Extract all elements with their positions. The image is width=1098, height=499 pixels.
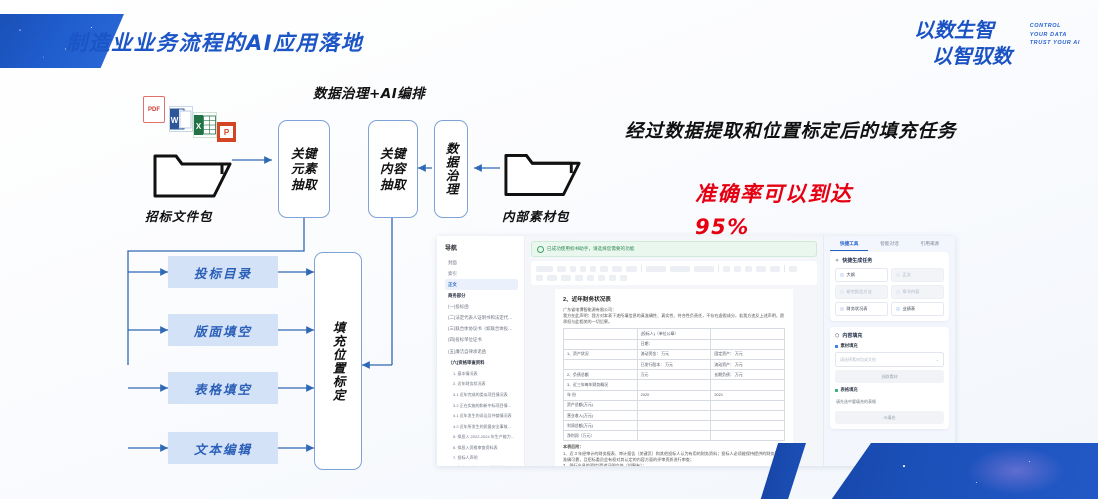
table-cell-7-2[interactable] — [711, 401, 784, 410]
panel-tab-1[interactable]: 智能对话 — [870, 238, 908, 251]
more-button[interactable] — [789, 266, 797, 272]
quick-generate-title: 快捷生成任务 — [842, 257, 872, 264]
material-fill-label-row: 素材填充 — [835, 343, 944, 349]
table-cell-4-0[interactable]: 2、负债总额 — [564, 370, 638, 379]
table-cell-10-0[interactable]: 净利润（万元） — [564, 431, 638, 440]
table-row: 利润总额(万元) — [564, 421, 784, 431]
excel-file-icon: X — [193, 112, 217, 138]
table-row: (投标人)（单位公章） — [564, 329, 784, 339]
node-key-content-extract[interactable]: 关键内容抽取 — [368, 120, 418, 218]
table-cell-3-1[interactable]: 已发行股本： 万元 — [638, 360, 712, 369]
table-cell-0-0[interactable] — [564, 329, 638, 338]
table-cell-10-2[interactable] — [711, 431, 784, 440]
line-spacing-button[interactable] — [756, 266, 766, 272]
node-fill-position-calibration-label: 填充位置标定 — [330, 321, 345, 402]
table-cell-9-0[interactable]: 利润总额(万元) — [564, 421, 638, 430]
quick-button-label: 正文 — [903, 272, 911, 278]
nav-item-15[interactable]: 4.2 近年所发生的质量安全事故情况... — [445, 421, 518, 432]
chevron-down-icon: ⌄ — [936, 357, 939, 362]
app-document-area: 已成功使用标书助手，请选择您需要的功能 — [525, 236, 823, 466]
format-painter-button[interactable] — [536, 275, 543, 281]
nav-item-1[interactable]: 索引 — [445, 268, 518, 279]
headline-red-line-1: 准确率可以到达 — [695, 178, 1025, 211]
insert-shape-button[interactable] — [587, 275, 594, 281]
default-style-chip[interactable] — [694, 266, 714, 272]
highlight-button[interactable] — [626, 266, 637, 272]
table-cell-8-1[interactable] — [638, 411, 712, 420]
nav-item-18[interactable]: 7. 投标人声明 — [445, 453, 518, 464]
node-fill-position-calibration[interactable]: 填充位置标定 — [314, 252, 362, 470]
table-cell-6-1[interactable]: 2020 — [638, 391, 712, 400]
default-font-size-chip[interactable] — [646, 266, 666, 272]
node-data-governance-label: 数据治理 — [443, 142, 458, 196]
fill-task-2[interactable]: 表格填空 — [168, 372, 278, 404]
svg-text:W: W — [171, 116, 179, 125]
svg-text:X: X — [196, 122, 202, 131]
source-folder-icon — [152, 146, 234, 209]
align-right-button[interactable] — [745, 266, 752, 272]
bullet-square-icon — [835, 345, 838, 348]
insert-image-button[interactable] — [547, 275, 557, 281]
undo-button[interactable] — [598, 275, 605, 281]
toolbar-row-1[interactable] — [536, 264, 812, 273]
embedded-app-screenshot: 导航 封面索引正文商务部分(一)投标函(二)法定代表人证明书和法定代表...(三… — [437, 236, 955, 466]
nav-item-0[interactable]: 封面 — [445, 257, 518, 268]
text-color-button[interactable] — [612, 266, 622, 272]
document-footer-1: 2、银行出具的资信/渠道证明文件（如果有）； — [563, 463, 785, 466]
node-data-governance[interactable]: 数据治理 — [434, 120, 468, 218]
document-line-1: 我方在此声明：我方对本表下述所填信息的真准确性、真实性、符合性负责任，不存在虚假… — [563, 313, 785, 325]
app-nav-sidebar[interactable]: 导航 封面索引正文商务部分(一)投标函(二)法定代表人证明书和法定代表...(三… — [437, 236, 525, 466]
bullet-square-green-icon — [835, 389, 838, 392]
table-row: 净利润（万元） — [564, 431, 784, 440]
select-material-button[interactable]: 选取素材 — [835, 370, 944, 383]
fill-task-0-label: 投标目录 — [194, 263, 252, 282]
nav-list: 封面索引正文商务部分(一)投标函(二)法定代表人证明书和法定代表...(三)联合… — [445, 257, 518, 466]
section-subtitle: 数据治理+AI编排 — [313, 82, 425, 102]
table-cell-3-0[interactable] — [564, 360, 638, 369]
material-select[interactable]: 请选择素材包或文档 ⌄ — [835, 352, 944, 367]
align-center-button[interactable] — [734, 266, 741, 272]
quick-button-2[interactable]: 研究报告方法 — [835, 285, 888, 299]
table-cell-0-1[interactable]: (投标人)（单位公章） — [638, 329, 712, 338]
italic-button[interactable] — [590, 266, 596, 272]
document-heading: 2、近年财务状况表 — [563, 295, 785, 303]
nav-item-5[interactable]: (二)法定代表人证明书和法定代表... — [445, 313, 518, 324]
table-cell-1-1[interactable]: 日期： — [638, 340, 712, 349]
toolbar-divider-3 — [784, 265, 785, 272]
headline-red: 准确率可以到达 95% — [695, 178, 1025, 243]
headline-black: 经过数据提取和位置标定后的填充任务 — [625, 118, 1025, 146]
table-cell-8-0[interactable]: 营业收入(万元) — [564, 411, 638, 420]
content-fill-title-row: ⬡ 内容填充 — [835, 332, 944, 339]
panel-tab-bar[interactable]: 快捷工具智能对话引用来源 — [830, 236, 949, 252]
insert-table-button[interactable] — [561, 275, 571, 281]
table-cell-6-0[interactable]: 年 份 — [564, 391, 638, 400]
node-key-element-extract[interactable]: 关键元素抽取 — [278, 120, 330, 218]
table-cell-4-2[interactable]: 长期负债： 万元 — [711, 370, 784, 379]
nav-item-19[interactable]: （七)招标文件要求提供的其他... — [445, 463, 518, 466]
material-select-placeholder: 请选择素材包或文档 — [840, 357, 876, 363]
bold-button[interactable] — [570, 266, 576, 272]
strikethrough-button[interactable] — [600, 266, 608, 272]
settings-button[interactable] — [620, 275, 627, 281]
powerpoint-file-icon: P — [217, 122, 236, 142]
table-cell-5-1[interactable] — [638, 380, 712, 389]
table-fill-hint: 请先选中要填充的表格 — [835, 396, 944, 408]
table-row: 2、负债总额万元长期负债： 万元 — [564, 370, 784, 380]
nav-item-14[interactable]: 4.1 近年发生的诉讼及仲裁情况表 — [445, 411, 518, 422]
quick-generate-buttons[interactable]: 大纲正文研究报告方法章节内容财务状况表业绩表 — [835, 268, 944, 316]
svg-text:P: P — [224, 128, 230, 137]
table-row: 营业收入(万元) — [564, 411, 784, 421]
source-folder-label: 招标文件包 — [145, 206, 213, 225]
nav-item-4[interactable]: (一)投标函 — [445, 302, 518, 313]
nav-item-11[interactable]: 2. 近年财务状况表 — [445, 379, 518, 390]
table-row: 资产总额(万元) — [564, 401, 784, 411]
toolbar-divider-1 — [641, 265, 642, 272]
table-fill-label: 表格填充 — [841, 387, 858, 393]
source-file-icons: PDF W X P — [143, 96, 238, 144]
document-page[interactable]: 2、近年财务状况表 广东省电博智能源有限公司： 我方在此声明：我方对本表下述所填… — [555, 289, 793, 466]
quick-generate-title-row: ✧ 快捷生成任务 — [835, 257, 944, 264]
toolbar-divider-2 — [718, 265, 719, 272]
app-banner-text: 已成功使用标书助手，请选择您需要的功能 — [547, 246, 634, 252]
quick-button-icon — [840, 290, 844, 294]
content-fill-title: 内容填充 — [842, 332, 862, 339]
app-editor-toolbar[interactable] — [531, 261, 817, 285]
nav-item-9[interactable]: （六)资格审查资料 — [445, 357, 518, 368]
table-cell-2-2[interactable]: 固定资产： 万元 — [711, 350, 784, 359]
table-cell-1-2[interactable] — [711, 340, 784, 349]
fill-task-2-label: 表格填空 — [194, 379, 252, 398]
table-cell-6-2[interactable]: 2021 — [711, 391, 784, 400]
panel-tab-0[interactable]: 快捷工具 — [830, 237, 868, 251]
align-left-button[interactable] — [723, 266, 730, 272]
quick-button-5[interactable]: 业绩表 — [891, 302, 944, 316]
table-cell-7-0[interactable]: 资产总额(万元) — [564, 401, 638, 410]
quick-button-icon — [896, 290, 900, 294]
nav-item-3[interactable]: 商务部分 — [445, 290, 518, 301]
nav-item-8[interactable]: (五)廉洁自律承诺函 — [445, 346, 518, 357]
table-cell-1-0[interactable] — [564, 340, 638, 349]
node-key-content-extract-label: 关键内容抽取 — [376, 146, 410, 193]
table-cell-2-0[interactable]: 1、资产状况 — [564, 350, 638, 359]
document-footer-0: 1、近 3 年经审计的财务报表、审计报告（关键页）和其他投标人认为有用的财务资料… — [563, 451, 785, 463]
quick-generate-card: ✧ 快捷生成任务 大纲正文研究报告方法章节内容财务状况表业绩表 — [830, 252, 949, 321]
table-cell-8-2[interactable] — [711, 411, 784, 420]
word-file-icon: W — [169, 106, 193, 132]
quick-button-icon — [840, 273, 844, 277]
panel-tab-2[interactable]: 引用来源 — [911, 238, 949, 251]
fill-task-1-label: 版面填空 — [194, 321, 252, 340]
info-icon — [537, 246, 544, 253]
nav-item-17[interactable]: 6. 拟投入资格审查资料表 — [445, 442, 518, 453]
table-row: 1、资产状况流动资金： 万元固定资产： 万元 — [564, 350, 784, 360]
quick-button-1[interactable]: 正文 — [891, 268, 944, 282]
quick-button-0[interactable]: 大纲 — [835, 268, 888, 282]
table-row: 已发行股本： 万元流动资产： 万元 — [564, 360, 784, 370]
nav-item-2[interactable]: 正文 — [445, 279, 518, 290]
nav-item-16[interactable]: 5. 拟投入 2022-2024 年生产能力... — [445, 432, 518, 443]
nav-title: 导航 — [445, 243, 518, 252]
default-font-chip[interactable] — [670, 266, 690, 272]
nav-item-6[interactable]: (三)联合体协议书（如联合体投标... — [445, 324, 518, 335]
internal-folder-label: 内部素材包 — [502, 206, 570, 225]
redo-button[interactable] — [609, 275, 616, 281]
ai-fill-button[interactable]: AI填充 — [835, 411, 944, 424]
nav-item-7[interactable]: (四)投标单位证书 — [445, 335, 518, 346]
fill-task-3-label: 文本编辑 — [194, 439, 252, 458]
node-key-element-extract-label: 关键元素抽取 — [287, 146, 321, 193]
fill-task-0[interactable]: 投标目录 — [168, 256, 278, 288]
font-family-select[interactable] — [557, 266, 566, 272]
quick-button-label: 章节内容 — [903, 289, 920, 295]
table-cell-4-1[interactable]: 万元 — [638, 370, 712, 379]
fill-task-3[interactable]: 文本编辑 — [168, 432, 278, 464]
table-cell-2-1[interactable]: 流动资金： 万元 — [638, 350, 712, 359]
table-cell-0-2[interactable] — [711, 329, 784, 338]
slide-canvas: 制造业业务流程的AI应用落地 以数生智 以智驭数 CONTROL YOUR DA… — [0, 0, 1098, 499]
table-row: 3、近三年每年财务概况 — [564, 380, 784, 390]
pdf-file-icon: PDF — [143, 96, 165, 123]
table-row: 年 份20202021 — [564, 391, 784, 401]
table-cell-9-1[interactable] — [638, 421, 712, 430]
quick-button-label: 大纲 — [847, 272, 855, 278]
internal-folder-icon — [503, 145, 583, 208]
font-size-select[interactable] — [536, 266, 553, 272]
table-fill-label-row: 表格填充 — [835, 387, 944, 393]
nav-item-10[interactable]: 1. 基本情况表 — [445, 368, 518, 379]
quick-button-3[interactable]: 章节内容 — [891, 285, 944, 299]
content-fill-card: ⬡ 内容填充 素材填充 请选择素材包或文档 ⌄ 选取素材 表格填充 请先选中要填… — [830, 327, 949, 429]
toolbar-row-2[interactable] — [536, 273, 812, 282]
nav-item-13[interactable]: 3.2 正在实施的和新中标项目情况表（如... — [445, 400, 518, 411]
nav-item-12[interactable]: 3.1 近年完成的类似项目情况表 — [445, 389, 518, 400]
fill-task-1[interactable]: 版面填空 — [168, 314, 278, 346]
quick-button-label: 研究报告方法 — [847, 289, 872, 295]
insert-link-button[interactable] — [575, 275, 583, 281]
table-cell-7-1[interactable] — [638, 401, 712, 410]
underline-button[interactable] — [580, 266, 586, 272]
quick-button-icon — [896, 307, 900, 311]
table-cell-9-2[interactable] — [711, 421, 784, 430]
quick-button-label: 业绩表 — [903, 306, 916, 312]
sparkle-icon: ✧ — [835, 258, 839, 264]
app-right-panel: 快捷工具智能对话引用来源 ✧ 快捷生成任务 大纲正文研究报告方法章节内容财务状况… — [823, 236, 955, 466]
quick-button-label: 财务状况表 — [847, 306, 868, 312]
table-cell-5-2[interactable] — [711, 380, 784, 389]
table-cell-5-0[interactable]: 3、近三年每年财务概况 — [564, 380, 638, 389]
quick-button-icon — [840, 307, 844, 311]
table-row: 日期： — [564, 340, 784, 350]
quick-button-4[interactable]: 财务状况表 — [835, 302, 888, 316]
table-cell-10-1[interactable] — [638, 431, 712, 440]
table-cell-3-2[interactable]: 流动资产： 万元 — [711, 360, 784, 369]
material-fill-label: 素材填充 — [841, 343, 858, 349]
quick-button-icon — [896, 273, 900, 277]
fill-icon: ⬡ — [835, 333, 839, 339]
list-button[interactable] — [770, 266, 780, 272]
app-banner: 已成功使用标书助手，请选择您需要的功能 — [531, 241, 817, 257]
document-table: (投标人)（单位公章）日期：1、资产状况流动资金： 万元固定资产： 万元已发行股… — [563, 328, 785, 441]
